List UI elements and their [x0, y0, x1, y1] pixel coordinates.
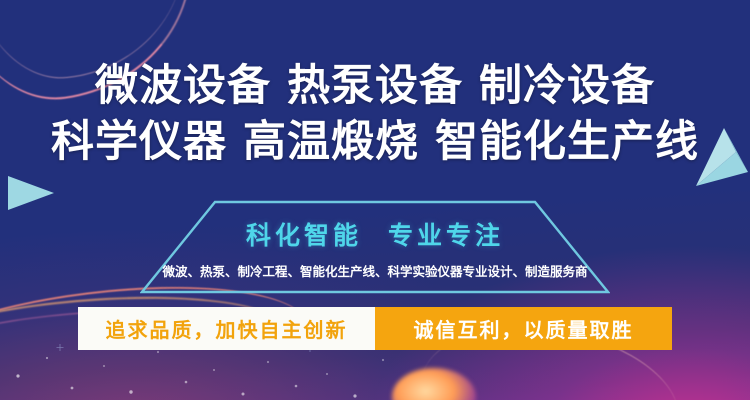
headline-line-1: 微波设备 热泵设备 制冷设备	[0, 58, 750, 114]
slogan-row: 追求品质，加快自主创新 诚信互利，以质量取胜	[78, 307, 672, 350]
light-glow-orb-icon	[392, 368, 476, 400]
tagline-title-left: 科化智能	[246, 221, 362, 250]
tagline-subtitle: 微波、热泵、制冷工程、智能化生产线、科学实验仪器专业设计、制造服务商	[140, 263, 610, 281]
tagline-title-right: 专业专注	[388, 221, 504, 250]
headline-line-2: 科学仪器 高温煅烧 智能化生产线	[0, 114, 750, 170]
slogan-panel-secondary: 诚信互利，以质量取胜	[375, 307, 672, 350]
triangle-right-icon	[8, 176, 54, 210]
slogan-panel-primary: 追求品质，加快自主创新	[78, 307, 375, 350]
headline: 微波设备 热泵设备 制冷设备 科学仪器 高温煅烧 智能化生产线	[0, 58, 750, 170]
promotional-banner: 微波设备 热泵设备 制冷设备 科学仪器 高温煅烧 智能化生产线 科化智能专业专注…	[0, 0, 750, 400]
tagline-title: 科化智能专业专注	[140, 219, 610, 253]
